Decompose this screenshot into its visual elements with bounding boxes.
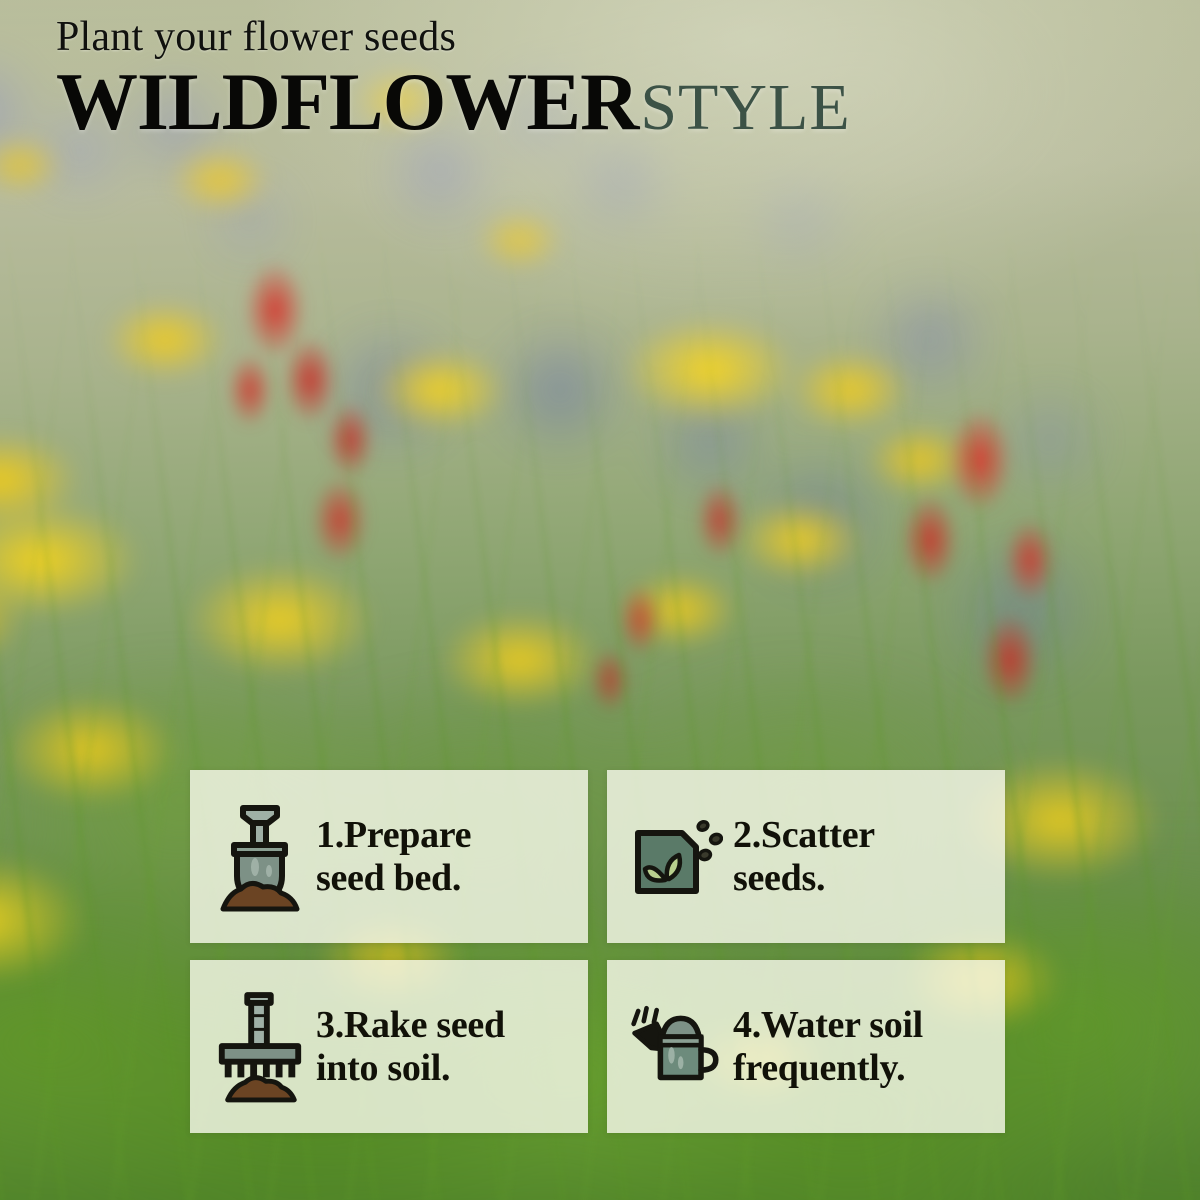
page-title: WILDFLOWER STYLE — [56, 61, 1200, 143]
instruction-step-grid: 1.Prepare seed bed. — [190, 770, 1005, 1146]
step-card-2-text: 2.Scatter seeds. — [725, 814, 991, 899]
step-card-3-line2: into soil. — [316, 1047, 574, 1090]
headline-sub-word: STYLE — [640, 75, 850, 141]
step-card-2[interactable]: 2.Scatter seeds. — [607, 770, 1005, 943]
seed-packet-icon — [629, 798, 725, 916]
shovel-soil-icon — [212, 798, 308, 916]
step-card-1-line2: seed bed. — [316, 857, 574, 900]
step-card-1[interactable]: 1.Prepare seed bed. — [190, 770, 588, 943]
step-card-1-line1: 1.Prepare — [316, 814, 471, 856]
step-card-1-text: 1.Prepare seed bed. — [308, 814, 574, 899]
poster-header: Plant your flower seeds WILDFLOWER STYLE — [0, 0, 1200, 160]
step-card-3[interactable]: 3.Rake seed into soil. — [190, 960, 588, 1133]
watering-can-icon — [629, 988, 725, 1106]
step-card-2-line1: 2.Scatter — [733, 814, 875, 856]
step-card-3-text: 3.Rake seed into soil. — [308, 1004, 574, 1089]
step-card-3-line1: 3.Rake seed — [316, 1004, 505, 1046]
step-card-4[interactable]: 4.Water soil frequently. — [607, 960, 1005, 1133]
headline-main-word: WILDFLOWER — [56, 61, 638, 143]
rake-soil-icon — [212, 988, 308, 1106]
step-card-4-text: 4.Water soil frequently. — [725, 1004, 991, 1089]
step-card-4-line1: 4.Water soil — [733, 1004, 923, 1046]
step-card-2-line2: seeds. — [733, 857, 991, 900]
header-kicker: Plant your flower seeds — [56, 16, 1200, 59]
step-card-4-line2: frequently. — [733, 1047, 991, 1090]
wildflower-seed-poster: Plant your flower seeds WILDFLOWER STYLE — [0, 0, 1200, 1200]
